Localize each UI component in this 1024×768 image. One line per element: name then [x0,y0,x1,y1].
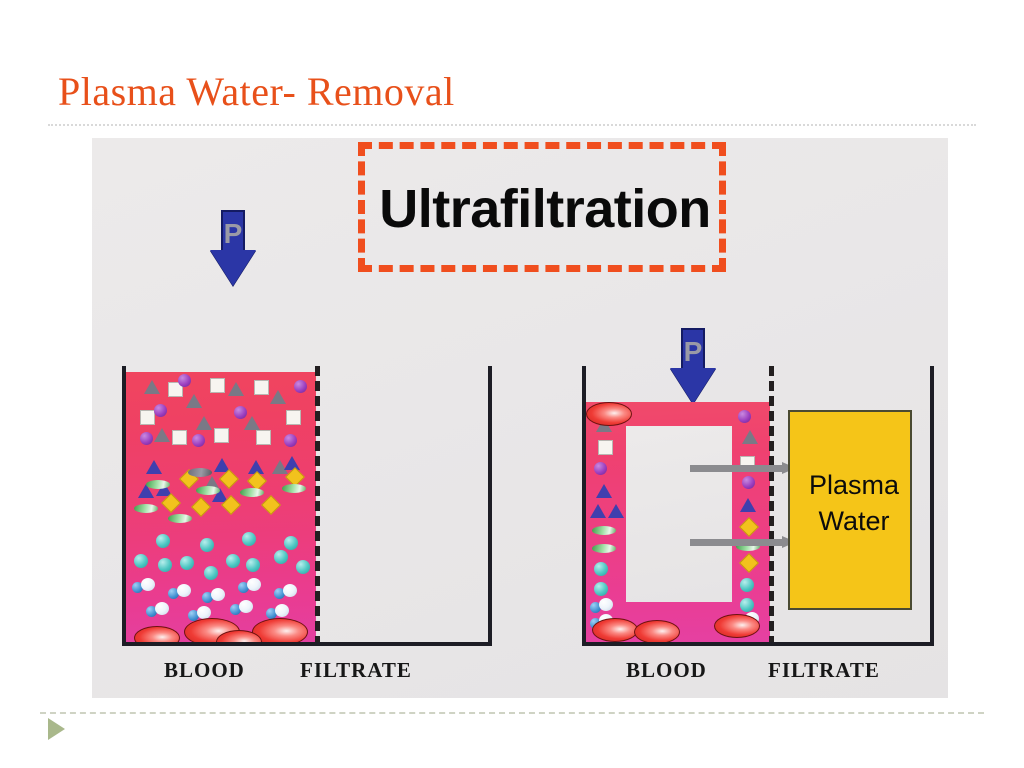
ultrafiltration-label: Ultrafiltration [350,178,740,240]
particle-purple-sphere [140,432,153,445]
particle-purple-sphere [192,434,205,447]
particle-cyan-sphere [156,534,170,548]
particle-cyan-sphere [226,554,240,568]
plasma-water-label: Plasma Water [792,468,916,539]
particle-cyan-sphere [740,578,754,592]
particle-red-blood-cell [634,620,680,642]
page-title: Plasma Water- Removal [58,68,455,115]
particle-gray-triangle [154,428,170,442]
arrow-head [210,250,256,286]
particle-cyan-sphere [594,562,608,576]
blood-compartment-left [126,372,316,642]
blood-compartment-right [586,402,770,642]
particle-green-ellipse [282,484,306,493]
particle-gray-triangle [244,416,260,430]
particle-red-blood-cell [586,402,632,426]
footer-divider [40,712,984,714]
particle-white-square [256,430,271,445]
particle-green-ellipse [168,514,192,523]
particle-blue-triangle [596,484,612,498]
triangle-bullet-icon [48,718,65,740]
particle-gray-triangle [270,390,286,404]
semipermeable-membrane-left [315,366,320,646]
particle-green-ellipse [240,488,264,497]
cleared-plasma-region [626,426,732,602]
particle-cyan-sphere [134,554,148,568]
particle-gray-triangle [144,380,160,394]
particle-gray-ellipse [188,468,212,477]
particle-white-square [254,380,269,395]
particle-cyan-sphere [740,598,754,612]
particle-water-molecule [230,600,254,614]
particle-blue-triangle [608,504,624,518]
arrow-line [690,539,784,546]
particle-gray-triangle [228,382,244,396]
particle-blue-triangle [284,456,300,470]
semipermeable-membrane-right [769,366,774,646]
particle-purple-sphere [178,374,191,387]
particle-white-square [210,378,225,393]
ultrafiltration-figure: Ultrafiltration P P [92,138,948,698]
particle-purple-sphere [294,380,307,393]
particle-white-square [172,430,187,445]
particle-red-blood-cell [134,626,180,642]
particle-yellow-diamond [161,493,181,513]
label-filtrate: FILTRATE [768,658,880,683]
particle-cyan-sphere [158,558,172,572]
particle-gray-triangle [186,394,202,408]
particle-yellow-diamond [739,553,759,573]
label-blood: BLOOD [626,658,707,683]
plasma-water-transfer-arrow-bottom [690,536,798,548]
plasma-water-label-line1: Plasma [792,468,916,504]
particle-green-ellipse [146,480,170,489]
particle-blue-triangle [590,504,606,518]
particle-water-molecule [132,578,156,592]
label-filtrate: FILTRATE [300,658,412,683]
plasma-water-label-line2: Water [792,504,916,540]
particle-cyan-sphere [204,566,218,580]
particle-gray-triangle [196,416,212,430]
particle-water-molecule [274,584,298,598]
arrow-line [690,465,784,472]
particle-gray-triangle [742,430,758,444]
plasma-water-transfer-arrow-top [690,462,798,474]
particle-green-ellipse [196,486,220,495]
particle-purple-sphere [154,404,167,417]
particle-water-molecule [238,578,262,592]
particle-white-square [214,428,229,443]
particle-purple-sphere [284,434,297,447]
particle-cyan-sphere [180,556,194,570]
label-blood: BLOOD [164,658,245,683]
particle-purple-sphere [234,406,247,419]
particle-water-molecule [202,588,226,602]
particle-cyan-sphere [296,560,310,574]
particle-cyan-sphere [246,558,260,572]
pressure-arrow-right-label: P [670,336,716,368]
particle-yellow-diamond [219,469,239,489]
particle-white-square [140,410,155,425]
particle-cyan-sphere [200,538,214,552]
particle-yellow-diamond [739,517,759,537]
diagram-before-ultrafiltration: BLOOD FILTRATE [122,366,492,646]
particle-water-molecule [590,598,614,612]
particle-cyan-sphere [274,550,288,564]
particle-purple-sphere [594,462,607,475]
particle-red-blood-cell [592,618,638,642]
particle-yellow-diamond [261,495,281,515]
particle-purple-sphere [742,476,755,489]
particle-water-molecule [266,604,290,618]
particle-green-ellipse [592,544,616,553]
particle-green-ellipse [592,526,616,535]
particle-water-molecule [146,602,170,616]
particle-water-molecule [168,584,192,598]
particle-blue-triangle [740,498,756,512]
particle-white-square [598,440,613,455]
title-divider [48,124,976,126]
particle-purple-sphere [738,410,751,423]
particle-white-square [286,410,301,425]
pressure-arrow-left-label: P [210,218,256,250]
particle-yellow-diamond [191,497,211,517]
particle-cyan-sphere [594,582,608,596]
particle-cyan-sphere [284,536,298,550]
particle-green-ellipse [134,504,158,513]
particle-blue-triangle [146,460,162,474]
particle-cyan-sphere [242,532,256,546]
particle-red-blood-cell [714,614,760,638]
